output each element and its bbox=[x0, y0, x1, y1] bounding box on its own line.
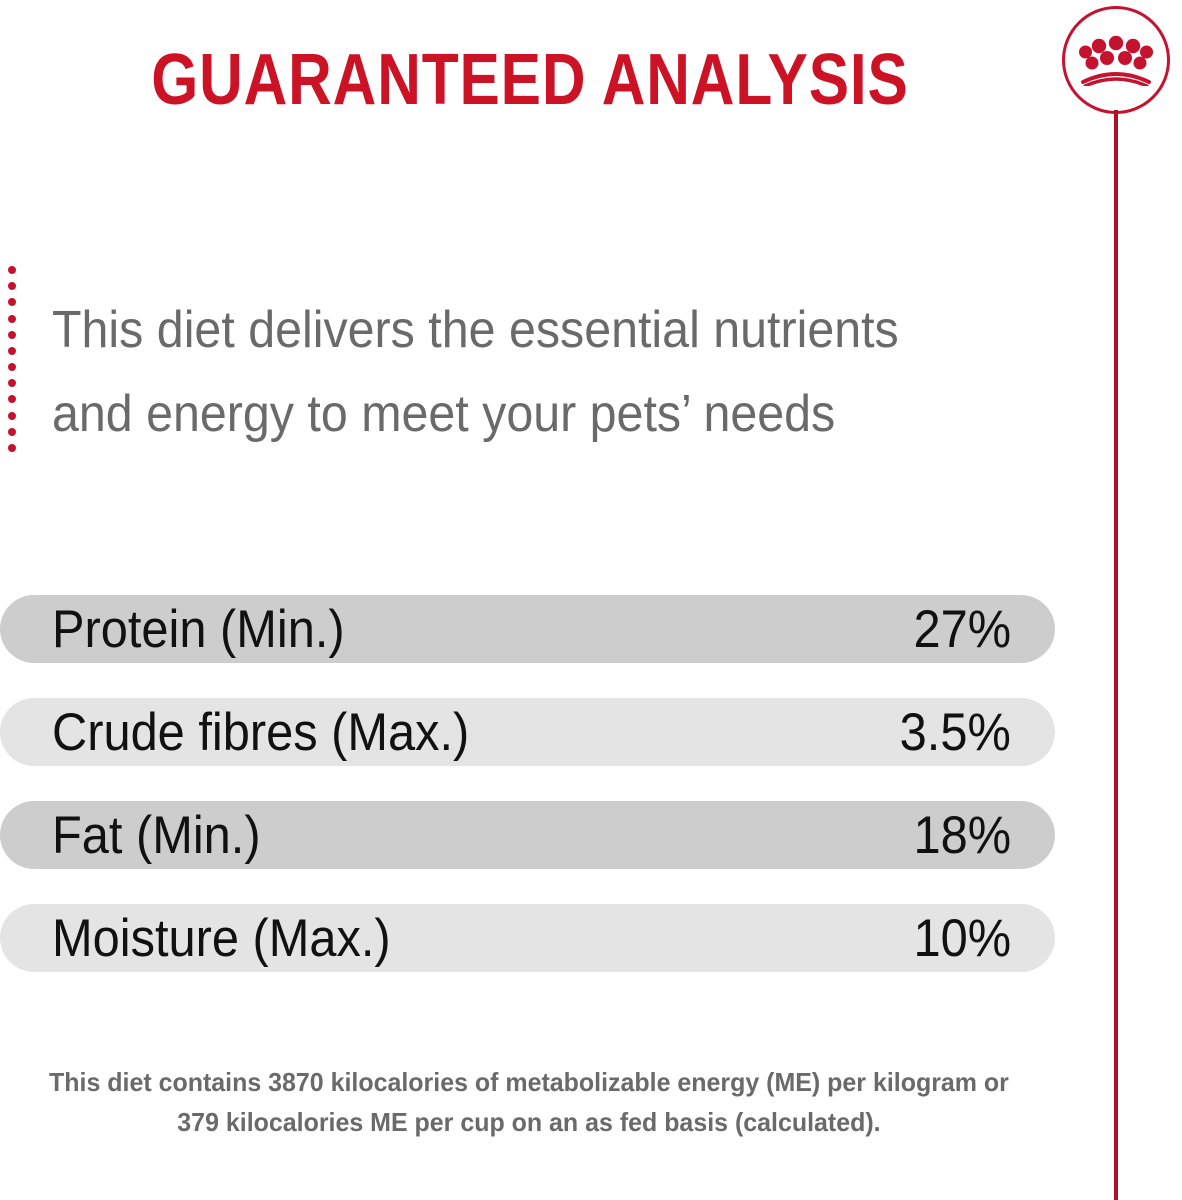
dotted-rail-decoration bbox=[7, 266, 17, 452]
crown-icon bbox=[1079, 34, 1153, 86]
rail-dot bbox=[8, 379, 16, 387]
rail-dot bbox=[8, 315, 16, 323]
nutrient-label: Crude fibres (Max.) bbox=[52, 706, 469, 759]
rail-dot bbox=[8, 266, 16, 274]
table-row: Protein (Min.) 27% bbox=[0, 595, 1055, 663]
rail-dot bbox=[8, 444, 16, 452]
rail-dot bbox=[8, 331, 16, 339]
nutrient-value: 3.5% bbox=[900, 706, 1011, 759]
rail-dot bbox=[8, 347, 16, 355]
royal-canin-logo bbox=[1062, 6, 1170, 114]
table-row: Moisture (Max.) 10% bbox=[0, 904, 1055, 972]
nutrient-value: 10% bbox=[913, 912, 1011, 965]
logo-vertical-rule bbox=[1114, 110, 1118, 1200]
page-title: GUARANTEED ANALYSIS bbox=[85, 44, 975, 116]
table-row: Crude fibres (Max.) 3.5% bbox=[0, 698, 1055, 766]
nutrient-label: Fat (Min.) bbox=[52, 809, 261, 862]
rail-dot bbox=[8, 298, 16, 306]
nutrient-value: 27% bbox=[913, 603, 1011, 656]
rail-dot bbox=[8, 282, 16, 290]
nutrient-label: Moisture (Max.) bbox=[52, 912, 391, 965]
nutrient-label: Protein (Min.) bbox=[52, 603, 345, 656]
intro-paragraph: This diet delivers the essential nutrien… bbox=[52, 288, 982, 456]
table-row: Fat (Min.) 18% bbox=[0, 801, 1055, 869]
rail-dot bbox=[8, 428, 16, 436]
rail-dot bbox=[8, 412, 16, 420]
calorie-footnote: This diet contains 3870 kilocalories of … bbox=[48, 1062, 1010, 1142]
nutrient-value: 18% bbox=[913, 809, 1011, 862]
analysis-row-list: Protein (Min.) 27% Crude fibres (Max.) 3… bbox=[0, 595, 1055, 972]
rail-dot bbox=[8, 395, 16, 403]
rail-dot bbox=[8, 363, 16, 371]
guaranteed-analysis-panel: GUARANTEED ANALYSIS This diet delivers t… bbox=[0, 0, 1182, 1200]
